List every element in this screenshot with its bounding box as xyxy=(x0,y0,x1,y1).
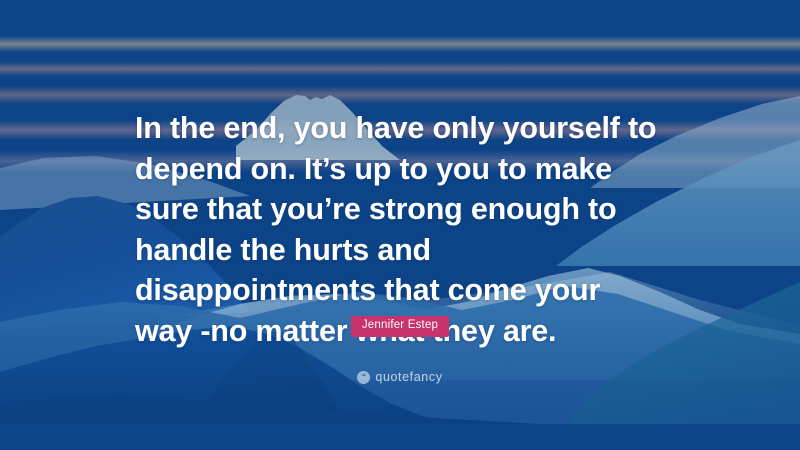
watermark-label: quotefancy xyxy=(375,371,442,384)
quote-mark-icon: “ xyxy=(357,371,370,384)
quote-poster: In the end, you have only yourself to de… xyxy=(0,0,800,450)
watermark: “ quotefancy xyxy=(0,366,800,384)
foreground-bottom-fill xyxy=(0,424,800,450)
author-container: Jennifer Estep xyxy=(0,315,800,337)
watermark-inner[interactable]: “ quotefancy xyxy=(357,371,442,384)
author-badge[interactable]: Jennifer Estep xyxy=(351,316,449,337)
